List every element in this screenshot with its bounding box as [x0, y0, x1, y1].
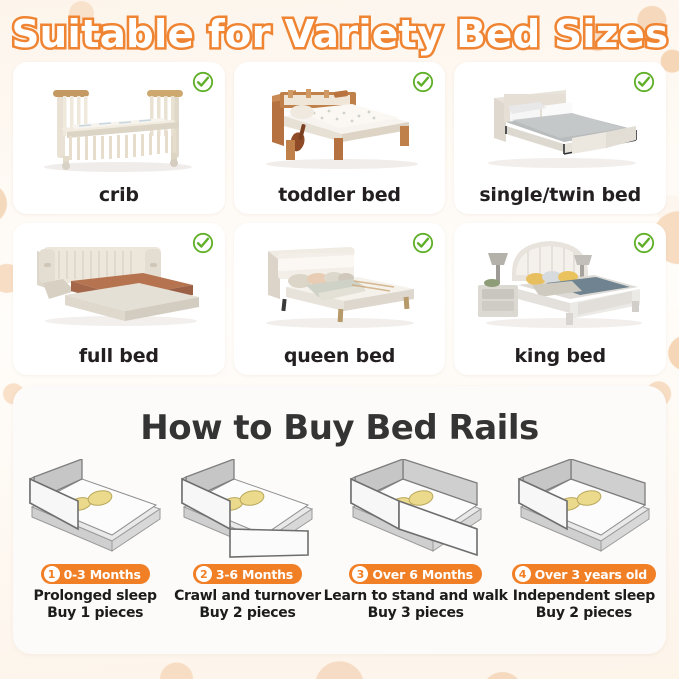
step-badge: 3 Over 6 Months	[349, 564, 481, 584]
bed-card-queen-bed[interactable]: queen bed	[234, 223, 446, 375]
bed-card-label: crib	[13, 184, 225, 206]
step-number: 4	[515, 566, 531, 582]
how-to-buy-panel: How to Buy Bed Rails	[13, 386, 666, 654]
step-badge: 1 0-3 Months	[41, 564, 150, 584]
bed-card-full-bed[interactable]: full bed	[13, 223, 225, 375]
bed-card-label: single/twin bed	[454, 184, 666, 206]
step-badge: 4 Over 3 years old	[512, 564, 656, 584]
green-check-circle-icon	[192, 71, 214, 93]
bed-with-two-side-rails-diagram	[508, 454, 660, 564]
bed-card-crib[interactable]: crib	[13, 62, 225, 214]
step-description: Prolonged sleep	[19, 588, 171, 604]
buy-step-1[interactable]: 1 0-3 Months Prolonged sleep Buy 1 piece…	[19, 454, 171, 621]
step-age-label: 3-6 Months	[216, 567, 293, 582]
bed-card-label: king bed	[454, 345, 666, 367]
bed-with-three-rails-diagram	[324, 454, 508, 564]
panel-title: How to Buy Bed Rails	[13, 386, 666, 448]
step-age-label: 0-3 Months	[64, 567, 141, 582]
bed-card-toddler-bed[interactable]: toddler bed	[234, 62, 446, 214]
headline-container: Suitable for Variety Bed Sizes	[0, 0, 679, 62]
step-number: 1	[44, 566, 60, 582]
step-number: 3	[352, 566, 368, 582]
bed-size-card-grid: crib	[0, 62, 679, 375]
step-description: Independent sleep	[508, 588, 660, 604]
step-age-label: Over 3 years old	[535, 567, 647, 582]
step-age-label: Over 6 Months	[372, 567, 472, 582]
bed-with-two-rails-diagram	[171, 454, 323, 564]
bed-with-one-rail-diagram	[19, 454, 171, 564]
page-root: Suitable for Variety Bed Sizes	[0, 0, 679, 679]
step-badge: 2 3-6 Months	[193, 564, 302, 584]
bed-card-single-twin-bed[interactable]: single/twin bed	[454, 62, 666, 214]
step-quantity: Buy 1 pieces	[19, 605, 171, 621]
bed-card-label: queen bed	[234, 345, 446, 367]
buy-step-4[interactable]: 4 Over 3 years old Independent sleep Buy…	[508, 454, 660, 621]
step-quantity: Buy 2 pieces	[171, 605, 323, 621]
step-quantity: Buy 2 pieces	[508, 605, 660, 621]
green-check-circle-icon	[633, 232, 655, 254]
green-check-circle-icon	[412, 71, 434, 93]
step-quantity: Buy 3 pieces	[324, 605, 508, 621]
green-check-circle-icon	[412, 232, 434, 254]
green-check-circle-icon	[633, 71, 655, 93]
green-check-circle-icon	[192, 232, 214, 254]
page-title: Suitable for Variety Bed Sizes	[11, 12, 668, 56]
bed-card-king-bed[interactable]: king bed	[454, 223, 666, 375]
buy-step-2[interactable]: 2 3-6 Months Crawl and turnover Buy 2 pi…	[171, 454, 323, 621]
step-description: Crawl and turnover	[171, 588, 323, 604]
step-number: 2	[196, 566, 212, 582]
bed-card-label: full bed	[13, 345, 225, 367]
bed-card-label: toddler bed	[234, 184, 446, 206]
buy-step-3[interactable]: 3 Over 6 Months Learn to stand and walk …	[324, 454, 508, 621]
step-description: Learn to stand and walk	[324, 588, 508, 604]
buy-steps-row: 1 0-3 Months Prolonged sleep Buy 1 piece…	[13, 454, 666, 621]
